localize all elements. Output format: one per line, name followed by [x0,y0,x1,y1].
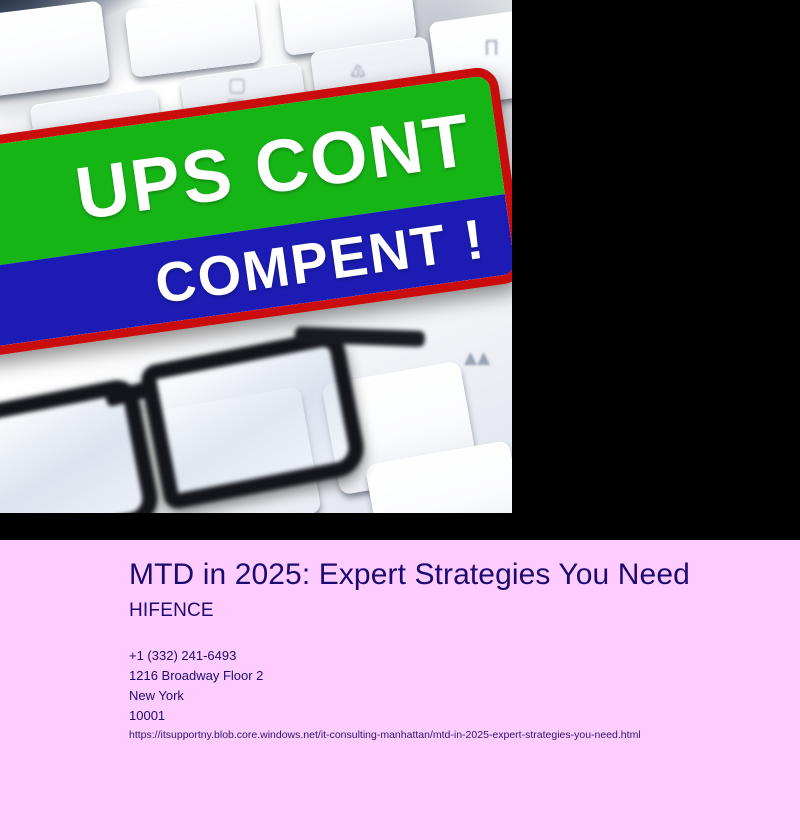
contact-postal-code: 10001 [129,706,263,726]
source-url-link[interactable]: https://itsupportny.blob.core.windows.ne… [129,729,641,741]
contact-phone: +1 (332) 241-6493 [129,646,263,666]
contact-block: +1 (332) 241-6493 1216 Broadway Floor 2 … [129,646,263,726]
contact-city: New York [129,686,263,706]
keyboard-key-glyph-icon: ♳ [350,62,366,83]
content-panel: MTD in 2025: Expert Strategies You Need … [0,540,800,840]
contact-street: 1216 Broadway Floor 2 [129,666,263,686]
media-region: ▢ ▣ ♳ Π ▲▲ UPS CONT COMPENT ! [0,0,800,540]
organization-name: HIFENCE [129,600,214,622]
keyboard-key-glyph-icon: ▲▲ [464,348,490,368]
keyboard-key-glyph-icon: Π [484,36,499,60]
keyboard-key [0,1,111,98]
page-title: MTD in 2025: Expert Strategies You Need [129,558,690,592]
eyeglasses-right-lens [139,328,369,511]
hero-photo: ▢ ▣ ♳ Π ▲▲ UPS CONT COMPENT ! [0,0,512,513]
keyboard-key-glyph-icon: ▢ [228,74,246,96]
